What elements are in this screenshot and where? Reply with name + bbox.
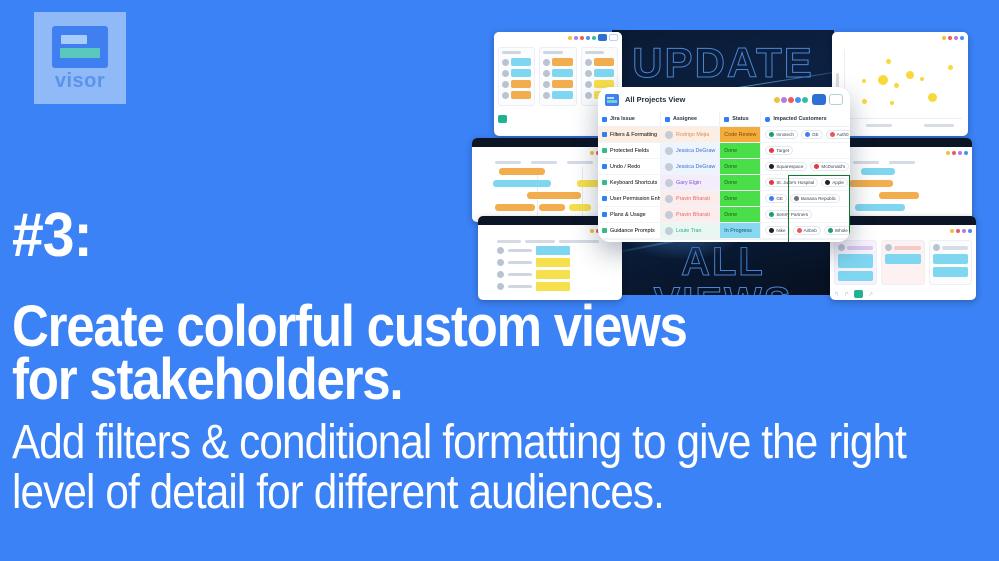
slide-headline: Create colorful custom views for stakeho… (12, 300, 742, 407)
table-cell-issue[interactable]: Undo / Redo (598, 159, 660, 175)
card-bar (552, 80, 572, 88)
table-cell-customers[interactable]: Innotech GE Auth0 (761, 127, 850, 143)
gantt-rows (835, 167, 967, 222)
gantt-row[interactable] (839, 167, 967, 176)
avatar-dot (586, 36, 590, 40)
issue-name: Filters & Formatting (610, 132, 657, 138)
customer-chip[interactable]: Nike (765, 226, 789, 235)
kanban-column-title (585, 51, 604, 54)
grid-view-button[interactable] (854, 290, 863, 298)
thumb-toolbar (830, 225, 976, 236)
avatar-dot (948, 36, 952, 40)
avatar-dot (590, 151, 594, 155)
avatar (497, 271, 504, 278)
avatar (585, 81, 592, 88)
kanban-card[interactable] (933, 267, 968, 277)
avatar-dot (574, 36, 578, 40)
avatar-dot (590, 229, 594, 233)
panel-title: All Projects View (625, 95, 685, 104)
kanban-column (498, 47, 535, 106)
projects-table: Jira Issue Filters & Formatting Protecte… (598, 112, 850, 239)
table-cell-customers[interactable]: Nike Airbnb Whole Foods (761, 223, 850, 239)
gantt-row[interactable] (481, 203, 617, 212)
customer-chip[interactable]: Airbnb (793, 226, 821, 235)
status-badge: Done (724, 180, 737, 186)
avatar (543, 59, 550, 66)
refresh-button[interactable] (829, 94, 843, 105)
avatar (502, 81, 509, 88)
gantt-period-label (853, 161, 879, 164)
table-cell-issue[interactable]: User Permission Enhancements (598, 191, 660, 207)
banner-allviews-text: ALL VIEWS (612, 242, 834, 295)
redo-icon[interactable]: ↱ (844, 291, 849, 298)
column-header-impacted-customers[interactable]: Impacted Customers (761, 112, 850, 127)
share-button[interactable] (598, 34, 607, 41)
bubble-chart-view[interactable] (832, 32, 968, 136)
data-bubble[interactable] (906, 71, 914, 79)
assignee-name: Jessica DeGraw (676, 164, 715, 170)
avatar (502, 92, 509, 99)
data-bubble[interactable] (886, 59, 891, 64)
card-bar (594, 69, 614, 77)
column-impacted-customers: Impacted Customers Innotech GE Auth0 Tar… (760, 112, 850, 239)
customer-chip[interactable]: Sentry Partners (765, 210, 812, 219)
status-cell[interactable] (536, 270, 570, 279)
table-cell-status[interactable]: Done (720, 175, 760, 191)
table-row[interactable] (483, 258, 617, 267)
issue-name: Keyboard Shortcuts (610, 180, 657, 186)
kanban-card[interactable] (838, 254, 873, 268)
table-cell-issue[interactable]: Protected Fields (598, 143, 660, 159)
avatar (497, 283, 504, 290)
gantt-period-label (495, 161, 521, 164)
kanban-column-header (933, 244, 968, 251)
avatar (502, 70, 509, 77)
visor-logo-mark (52, 26, 108, 68)
issue-name: Guidance Prompts (610, 228, 655, 234)
avatar-dot (580, 36, 584, 40)
kanban-card[interactable] (502, 80, 531, 88)
customer-chip[interactable]: McDonald's (810, 162, 849, 171)
assignee-name (508, 261, 532, 264)
column-header-jira-issue[interactable]: Jira Issue (598, 112, 660, 127)
table-cell-issue[interactable]: Plans & Usage (598, 207, 660, 223)
column-header-status[interactable]: Status (720, 112, 760, 127)
diamond-icon (724, 117, 729, 122)
x-axis (844, 118, 962, 119)
avatar (497, 247, 504, 254)
table-row[interactable] (483, 246, 617, 255)
kanban-card[interactable] (585, 69, 614, 77)
kanban-column-title (543, 51, 562, 54)
assignee-name: Pravin Bharati (676, 196, 710, 202)
issue-type-icon (602, 196, 607, 201)
table-cell-status[interactable]: Done (720, 159, 760, 175)
kanban-column-header (838, 244, 873, 251)
kanban-card[interactable] (838, 271, 873, 281)
card-bar (511, 91, 531, 99)
product-screenshot-collage: UPDATE ALL VIEWS (494, 30, 950, 295)
visor-logo: visor (34, 12, 126, 104)
issue-name: Undo / Redo (610, 164, 640, 170)
assignee-name (894, 246, 920, 250)
column-header (525, 240, 555, 243)
column-label: Assignee (673, 116, 697, 122)
kanban-card[interactable] (885, 254, 920, 264)
kanban-column (929, 240, 972, 285)
table-cell-status[interactable]: In Progress (720, 223, 760, 239)
data-bubble[interactable] (862, 79, 866, 83)
column-assignee: Assignee Rodrigo Mejia Jessica DeGraw Je… (660, 112, 719, 239)
avatar (933, 244, 940, 251)
status-cell[interactable] (536, 282, 570, 291)
avatar-dot (958, 151, 962, 155)
collaborator-avatar[interactable] (801, 96, 809, 104)
column-status: Status Code Review Done Done Done Done D… (719, 112, 760, 239)
kanban-card[interactable] (933, 254, 968, 264)
table-cell-assignee[interactable]: Jessica DeGraw (661, 159, 719, 175)
data-bubble[interactable] (920, 77, 924, 81)
customer-chip[interactable]: Auth0 (826, 130, 850, 139)
grid-view-button[interactable] (498, 115, 507, 123)
kanban-assignee-view[interactable]: ↰ ↱ ↗ (830, 216, 976, 300)
kanban-column (881, 240, 924, 285)
column-header (559, 240, 599, 243)
table-cell-customers[interactable]: Sentry Partners (761, 207, 850, 223)
panel-header: All Projects View (598, 87, 850, 112)
table-cell-assignee[interactable]: Louie Tran (661, 223, 719, 239)
table-cell-issue[interactable]: Guidance Prompts (598, 223, 660, 239)
slide-subhead: Add filters & conditional formatting to … (12, 418, 962, 518)
status-badge: Done (724, 196, 737, 202)
customer-chip[interactable]: GE (765, 194, 787, 203)
kanban-card[interactable] (543, 69, 572, 77)
refresh-button[interactable] (609, 34, 618, 41)
banner-update-text: UPDATE (612, 42, 834, 84)
avatar (665, 163, 673, 171)
table-cell-assignee[interactable]: Gary Elgin (661, 175, 719, 191)
table-row[interactable] (483, 270, 617, 279)
table-cell-customers[interactable]: Squarespace McDonald's (761, 159, 850, 175)
table-header-row (483, 240, 617, 243)
card-bar (552, 69, 572, 77)
avatar-dot (956, 229, 960, 233)
gantt-period-label (889, 161, 915, 164)
kanban-column (834, 240, 877, 285)
diamond-icon (602, 117, 607, 122)
gantt-period-label (531, 161, 557, 164)
table-cell-status[interactable]: Done (720, 207, 760, 223)
avatar (665, 195, 673, 203)
avatar (885, 244, 892, 251)
issue-type-icon (602, 132, 607, 137)
thumb-toolbar (832, 32, 968, 43)
customer-chip[interactable]: Innotech (765, 130, 798, 139)
avatar-dot (592, 36, 596, 40)
avatar (665, 227, 673, 235)
issue-type-icon (602, 212, 607, 217)
status-badge: Done (724, 212, 737, 218)
data-bubble[interactable] (878, 75, 888, 85)
customer-chip[interactable]: GE (801, 130, 823, 139)
diamond-icon (665, 117, 670, 122)
avatar (838, 244, 845, 251)
column-label: Status (732, 116, 748, 122)
customer-chip[interactable]: Apple (821, 178, 848, 187)
avatar (665, 147, 673, 155)
assignee-name (508, 285, 532, 288)
kanban-column-header (885, 244, 920, 251)
issue-type-icon (602, 228, 607, 233)
logo-bar-teal (60, 48, 100, 58)
thumb-chrome (830, 216, 976, 225)
card-bar (594, 58, 614, 66)
table-cell-status[interactable]: Code Review (720, 127, 760, 143)
visor-wordmark: visor (55, 71, 105, 91)
thumb-chrome (830, 138, 972, 147)
assignee-name (847, 246, 873, 250)
avatar (543, 81, 550, 88)
customer-chip[interactable]: Squarespace (765, 162, 807, 171)
column-header (497, 240, 521, 243)
avatar (665, 179, 673, 187)
assignee-name: Jessica DeGraw (676, 148, 715, 154)
gantt-timeline-view[interactable] (830, 138, 972, 222)
slide-kicker: #3: (12, 205, 92, 267)
assignee-name: Louie Tran (676, 228, 701, 234)
avatar (585, 70, 592, 77)
table-cell-assignee[interactable]: Jessica DeGraw (661, 143, 719, 159)
all-projects-view-panel[interactable]: All Projects View Jira Issue Filters & F… (598, 87, 850, 242)
avatar-dot (568, 36, 572, 40)
assignee-name: Rodrigo Mejia (676, 132, 709, 138)
customer-chip[interactable]: St. Jude's Hospital (765, 178, 818, 187)
kanban-card[interactable] (543, 91, 572, 99)
customer-chip[interactable]: Banana Republic (790, 194, 840, 203)
kanban-card[interactable] (502, 69, 531, 77)
link-icon (765, 117, 770, 122)
avatar-dot (962, 229, 966, 233)
bubble-plot-area (832, 43, 968, 131)
gantt-row[interactable] (839, 179, 967, 188)
table-cell-customers[interactable]: GE Banana Republic (761, 191, 850, 207)
issue-type-icon (602, 164, 607, 169)
gantt-row[interactable] (481, 179, 617, 188)
avatar (502, 59, 509, 66)
kanban-card[interactable] (502, 91, 531, 99)
issue-type-icon (602, 180, 607, 185)
issue-name: Plans & Usage (610, 212, 646, 218)
undo-icon[interactable]: ↰ (834, 291, 839, 298)
share-button[interactable] (812, 94, 826, 105)
column-jira-issue: Jira Issue Filters & Formatting Protecte… (598, 112, 660, 239)
issue-name: User Permission Enhancements (610, 196, 660, 202)
x-axis-tick (866, 124, 892, 127)
customer-chip[interactable]: Whole Foods (824, 226, 850, 235)
link-icon[interactable]: ↗ (868, 291, 873, 298)
table-cell-customers[interactable]: St. Jude's Hospital Apple (761, 175, 850, 191)
kanban-card[interactable] (543, 58, 572, 66)
data-bubble[interactable] (862, 99, 867, 104)
kanban-card[interactable] (502, 58, 531, 66)
assignee-name (508, 249, 532, 252)
avatar-dot (952, 151, 956, 155)
thumb-toolbar (494, 32, 622, 43)
avatar-dot (960, 36, 964, 40)
status-badge: Done (724, 164, 737, 170)
customer-chip[interactable]: Target (765, 146, 793, 155)
x-axis-tick (924, 124, 954, 127)
avatar-dot (954, 36, 958, 40)
status-badge: Code Review (724, 132, 756, 138)
card-bar (511, 69, 531, 77)
table-cell-status[interactable]: Done (720, 191, 760, 207)
logo-bar-light (61, 35, 87, 44)
avatar (543, 92, 550, 99)
avatar (585, 92, 592, 99)
data-bubble[interactable] (894, 83, 899, 88)
table-cell-assignee[interactable]: Pravin Bharati (661, 207, 719, 223)
table-cell-status[interactable]: Done (720, 143, 760, 159)
status-badge: Done (724, 148, 737, 154)
column-label: Impacted Customers (773, 116, 826, 122)
panel-footer: ↰ ↱ ▤ ↗ (598, 239, 850, 242)
status-cell[interactable] (536, 246, 570, 255)
kanban-card[interactable] (585, 58, 614, 66)
table-cell-assignee[interactable]: Rodrigo Mejia (661, 127, 719, 143)
assignee-name: Gary Elgin (676, 180, 701, 186)
status-badge: In Progress (724, 228, 752, 234)
avatar-dot (946, 151, 950, 155)
data-bubble[interactable] (928, 93, 937, 102)
avatar-dot (950, 229, 954, 233)
card-bar (511, 80, 531, 88)
issue-name: Protected Fields (610, 148, 649, 154)
issue-type-icon (602, 148, 607, 153)
avatar (543, 70, 550, 77)
avatar-dot (942, 36, 946, 40)
avatar (665, 131, 673, 139)
card-bar (552, 91, 572, 99)
table-cell-issue[interactable]: Filters & Formatting (598, 127, 660, 143)
assignee-name (508, 273, 532, 276)
kanban-card[interactable] (543, 80, 572, 88)
assignee-name (942, 246, 968, 250)
gantt-row[interactable] (481, 167, 617, 176)
data-bubble[interactable] (948, 65, 953, 70)
kanban-column-title (502, 51, 521, 54)
assignee-name: Pravin Bharati (676, 212, 710, 218)
table-cell-assignee[interactable]: Pravin Bharati (661, 191, 719, 207)
gantt-row[interactable] (481, 191, 617, 200)
avatar-dot (968, 229, 972, 233)
gantt-row[interactable] (839, 191, 967, 200)
column-header-assignee[interactable]: Assignee (661, 112, 719, 127)
gantt-row[interactable] (839, 203, 967, 212)
visor-app-icon (605, 94, 619, 106)
gantt-period-label (567, 161, 593, 164)
avatar-dot (964, 151, 968, 155)
card-bar (552, 58, 572, 66)
thumb-toolbar (830, 147, 972, 158)
table-cell-issue[interactable]: Keyboard Shortcuts (598, 175, 660, 191)
table-row[interactable] (483, 282, 617, 291)
card-bar (511, 58, 531, 66)
avatar (665, 211, 673, 219)
kanban-column (539, 47, 576, 106)
avatar (585, 59, 592, 66)
table-cell-customers[interactable]: Target (761, 143, 850, 159)
gantt-rows (477, 167, 617, 222)
status-cell[interactable] (536, 258, 570, 267)
data-bubble[interactable] (890, 101, 894, 105)
column-label: Jira Issue (610, 116, 635, 122)
avatar (497, 259, 504, 266)
